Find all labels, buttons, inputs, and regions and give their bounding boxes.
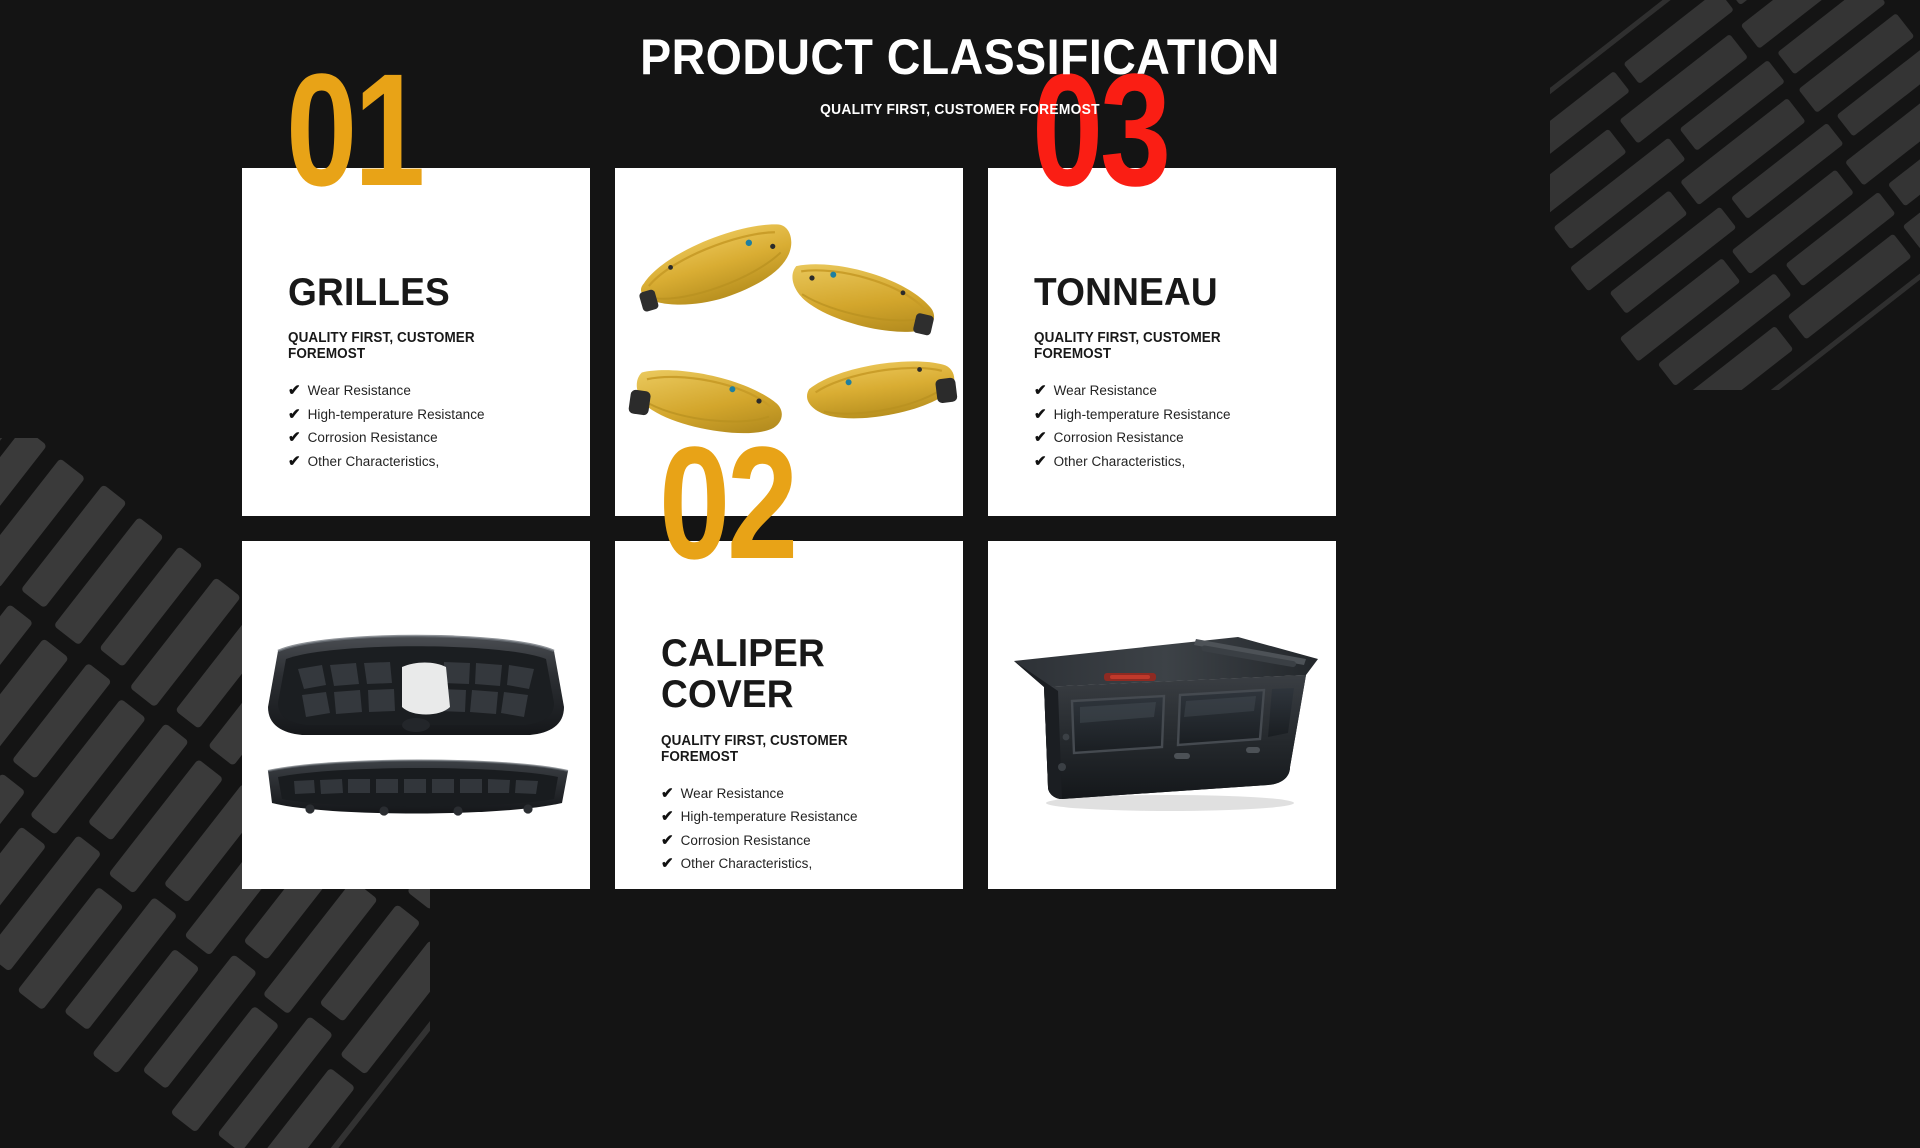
card-heading-grilles: GRILLES — [288, 272, 558, 313]
check-icon: ✔ — [661, 786, 674, 801]
product-card-grid: 01 GRILLES QUALITY FIRST, CUSTOMER FOREM… — [242, 168, 1336, 889]
product-card-caliper-cover[interactable]: 02 CALIPER COVER QUALITY FIRST, CUSTOMER… — [615, 541, 963, 889]
list-item: ✔ Wear Resistance — [1034, 383, 1318, 398]
feature-label: Other Characteristics, — [681, 856, 813, 871]
check-icon: ✔ — [1034, 407, 1047, 422]
list-item: ✔ Other Characteristics, — [1034, 454, 1318, 469]
product-photo-front-grille[interactable] — [242, 541, 590, 889]
card-subtitle-tonneau: QUALITY FIRST, CUSTOMER FOREMOST — [1034, 330, 1298, 362]
check-icon: ✔ — [288, 454, 301, 469]
product-card-tonneau[interactable]: 03 TONNEAU QUALITY FIRST, CUSTOMER FOREM… — [988, 168, 1336, 516]
feature-label: Corrosion Resistance — [1054, 430, 1184, 445]
list-item: ✔ Corrosion Resistance — [288, 430, 572, 445]
feature-label: Corrosion Resistance — [681, 833, 811, 848]
list-item: ✔ Wear Resistance — [661, 786, 945, 801]
feature-label: High-temperature Resistance — [681, 809, 858, 824]
feature-list-tonneau: ✔ Wear Resistance ✔ High-temperature Res… — [1034, 383, 1318, 469]
list-item: ✔ Corrosion Resistance — [1034, 430, 1318, 445]
list-item: ✔ High-temperature Resistance — [288, 407, 572, 422]
product-classification-page: PRODUCT CLASSIFICATION QUALITY FIRST, CU… — [0, 0, 1920, 1148]
check-icon: ✔ — [288, 383, 301, 398]
check-icon: ✔ — [661, 833, 674, 848]
feature-label: High-temperature Resistance — [1054, 407, 1231, 422]
list-item: ✔ High-temperature Resistance — [661, 809, 945, 824]
feature-label: Corrosion Resistance — [308, 430, 438, 445]
list-item: ✔ Other Characteristics, — [288, 454, 572, 469]
feature-label: Other Characteristics, — [1054, 454, 1186, 469]
list-item: ✔ Corrosion Resistance — [661, 833, 945, 848]
list-item: ✔ High-temperature Resistance — [1034, 407, 1318, 422]
feature-list-grilles: ✔ Wear Resistance ✔ High-temperature Res… — [288, 383, 572, 469]
check-icon: ✔ — [1034, 383, 1047, 398]
feature-label: Other Characteristics, — [308, 454, 440, 469]
list-item: ✔ Wear Resistance — [288, 383, 572, 398]
check-icon: ✔ — [661, 809, 674, 824]
card-number-badge-02: 02 — [659, 423, 795, 583]
front-grille-photo — [242, 541, 590, 889]
list-item: ✔ Other Characteristics, — [661, 856, 945, 871]
check-icon: ✔ — [1034, 430, 1047, 445]
card-subtitle-grilles: QUALITY FIRST, CUSTOMER FOREMOST — [288, 330, 552, 362]
check-icon: ✔ — [288, 407, 301, 422]
card-heading-caliper-cover-line1: CALIPER — [661, 633, 931, 674]
feature-label: High-temperature Resistance — [308, 407, 485, 422]
product-card-grilles[interactable]: 01 GRILLES QUALITY FIRST, CUSTOMER FOREM… — [242, 168, 590, 516]
tonneau-cover-photo — [988, 541, 1336, 889]
feature-label: Wear Resistance — [308, 383, 411, 398]
page-title: PRODUCT CLASSIFICATION — [67, 30, 1853, 85]
feature-list-caliper-cover: ✔ Wear Resistance ✔ High-temperature Res… — [661, 786, 945, 872]
product-photo-tonneau-cover[interactable] — [988, 541, 1336, 889]
page-subtitle: QUALITY FIRST, CUSTOMER FOREMOST — [77, 101, 1843, 118]
feature-label: Wear Resistance — [1054, 383, 1157, 398]
check-icon: ✔ — [661, 856, 674, 871]
card-subtitle-caliper-cover: QUALITY FIRST, CUSTOMER FOREMOST — [661, 733, 925, 765]
check-icon: ✔ — [1034, 454, 1047, 469]
card-heading-tonneau: TONNEAU — [1034, 272, 1304, 313]
header: PRODUCT CLASSIFICATION QUALITY FIRST, CU… — [0, 30, 1920, 118]
check-icon: ✔ — [288, 430, 301, 445]
card-heading-caliper-cover-line2: COVER — [661, 674, 931, 715]
feature-label: Wear Resistance — [681, 786, 784, 801]
